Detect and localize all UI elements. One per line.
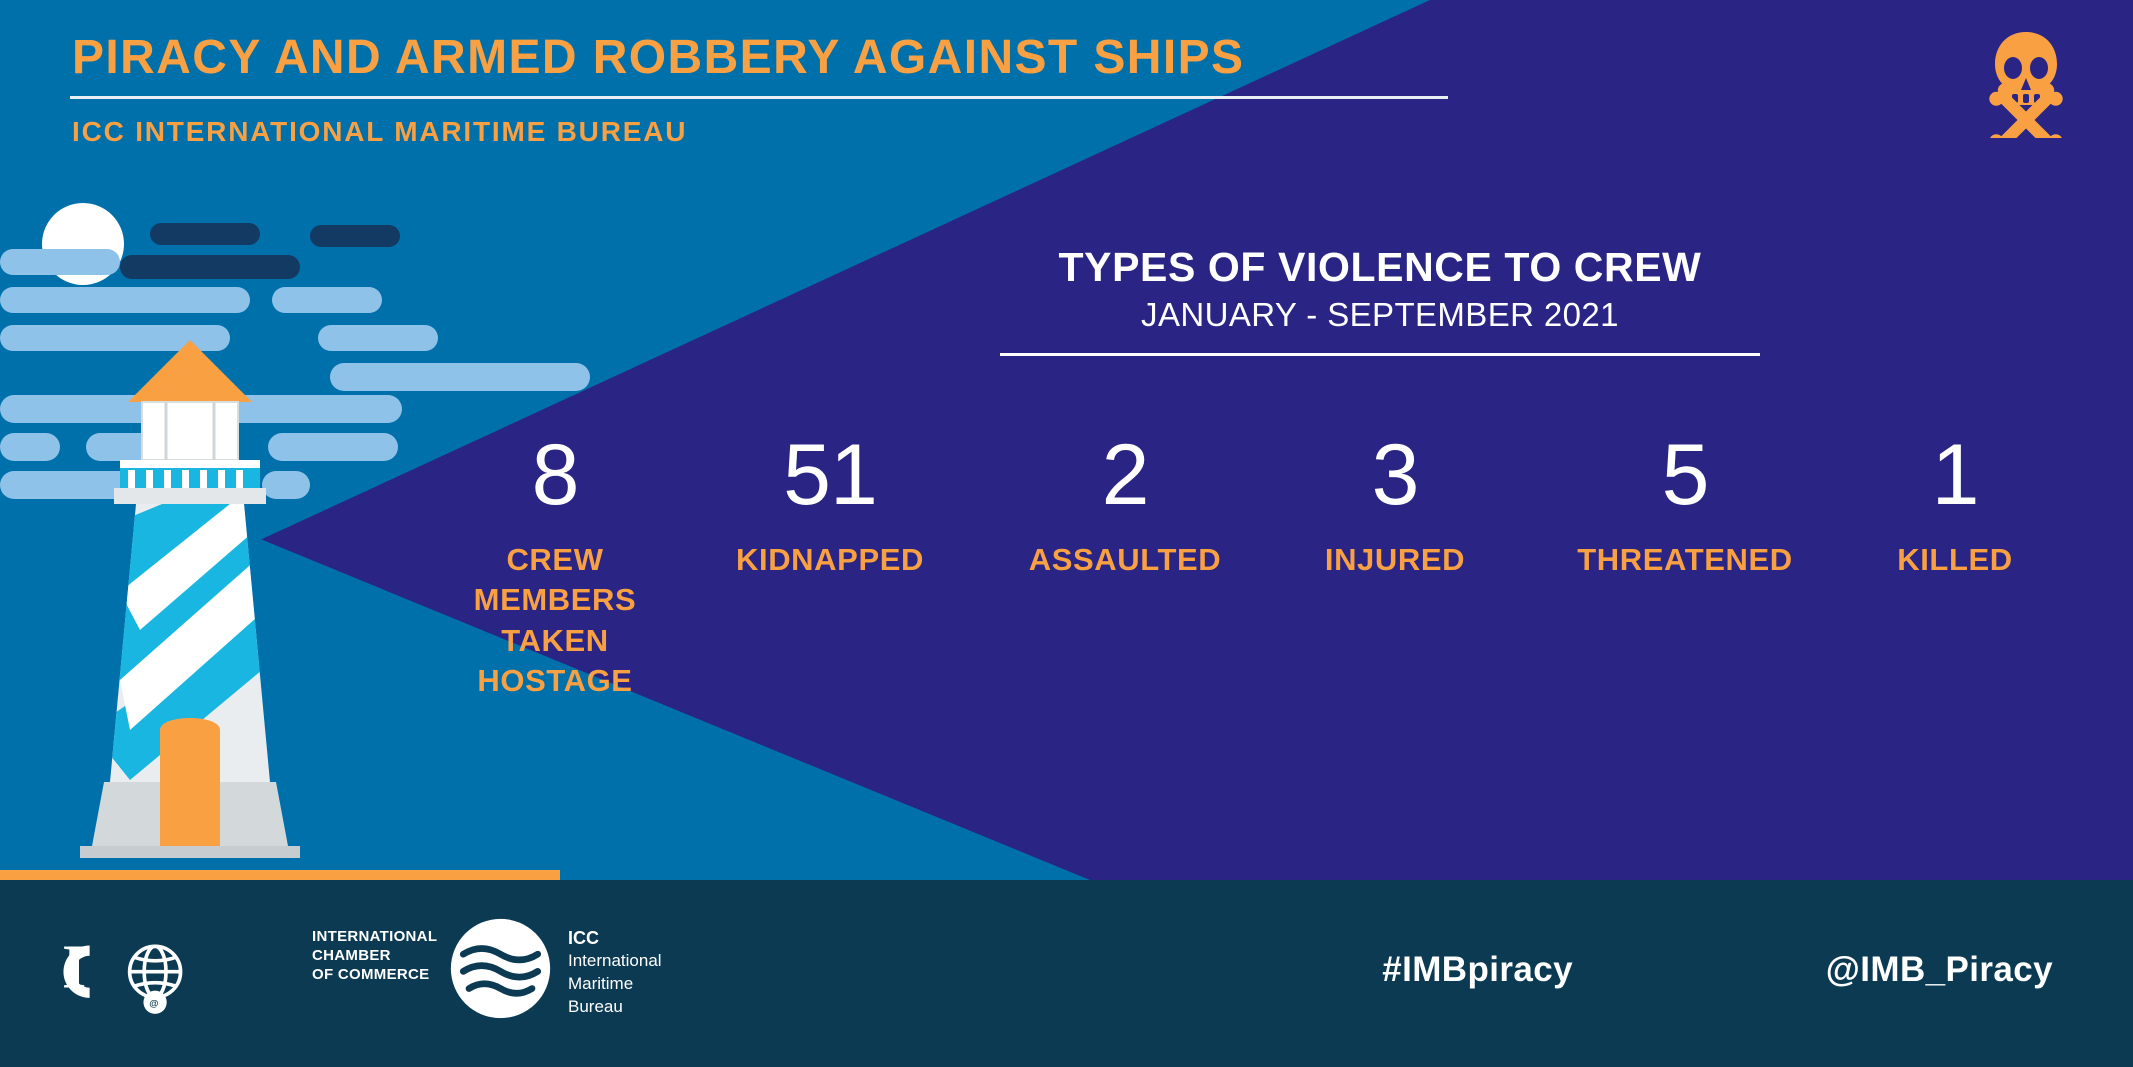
stat-killed: 1 KILLED: [1850, 432, 2060, 580]
stat-value: 2: [980, 432, 1270, 518]
cloud-bar: [0, 249, 120, 275]
icc-logo: I @ INTERNATIONAL CHAMBER OF COMMERCE: [62, 916, 392, 1026]
stat-value: 1: [1850, 432, 2060, 518]
orange-accent-bar: [0, 870, 560, 880]
icc-line1: INTERNATIONAL: [312, 928, 437, 947]
page-title: PIRACY AND ARMED ROBBERY AGAINST SHIPS: [72, 30, 1244, 85]
stat-value: 5: [1520, 432, 1850, 518]
header: PIRACY AND ARMED ROBBERY AGAINST SHIPS I…: [0, 0, 2133, 180]
stat-value: 8: [430, 432, 680, 518]
svg-text:@: @: [149, 999, 158, 1010]
stat-label: INJURED: [1270, 540, 1520, 580]
imb-line2: International: [568, 950, 662, 973]
hashtag-label[interactable]: #IMBpiracy: [1382, 950, 1573, 990]
imb-wave-mark: [448, 916, 553, 1021]
stat-kidnapped: 51 KIDNAPPED: [680, 432, 980, 580]
chart-period: JANUARY - SEPTEMBER 2021: [1000, 295, 1760, 335]
stat-label: ASSAULTED: [980, 540, 1270, 580]
icc-line3: OF COMMERCE: [312, 966, 437, 985]
heading-divider: [1000, 353, 1760, 356]
icc-logo-text: INTERNATIONAL CHAMBER OF COMMERCE: [312, 928, 437, 984]
cloud-bar: [272, 287, 382, 313]
cloud-bar: [330, 363, 590, 391]
stat-label: CREW MEMBERS TAKEN HOSTAGE: [430, 540, 680, 701]
statistics-row: 8 CREW MEMBERS TAKEN HOSTAGE 51 KIDNAPPE…: [430, 432, 2090, 701]
chart-heading: TYPES OF VIOLENCE TO CREW JANUARY - SEPT…: [1000, 245, 1760, 356]
cloud-bar: [0, 287, 250, 313]
imb-line3: Maritime: [568, 973, 662, 996]
stat-label: KIDNAPPED: [680, 540, 980, 580]
skull-and-crossbones-icon: [1981, 28, 2071, 138]
stat-threatened: 5 THREATENED: [1520, 432, 1850, 580]
imb-logo-text: ICC International Maritime Bureau: [568, 926, 662, 1019]
cloud-bar-dark: [310, 225, 400, 247]
imb-line4: Bureau: [568, 996, 662, 1019]
icc-line2: CHAMBER: [312, 947, 437, 966]
stat-hostage: 8 CREW MEMBERS TAKEN HOSTAGE: [430, 432, 680, 701]
stat-label: THREATENED: [1520, 540, 1850, 580]
stat-assaulted: 2 ASSAULTED: [980, 432, 1270, 580]
chart-title: TYPES OF VIOLENCE TO CREW: [1000, 245, 1760, 291]
stat-label: KILLED: [1850, 540, 2060, 580]
imb-line1: ICC: [568, 926, 662, 950]
twitter-handle-label[interactable]: @IMB_Piracy: [1826, 950, 2053, 990]
stat-value: 3: [1270, 432, 1520, 518]
icc-globe-mark: I @: [62, 916, 302, 1026]
cloud-bar-dark: [150, 223, 260, 245]
cloud-bar-dark: [120, 255, 300, 279]
stat-value: 51: [680, 432, 980, 518]
infographic-canvas: PIRACY AND ARMED ROBBERY AGAINST SHIPS I…: [0, 0, 2133, 1067]
title-divider: [70, 96, 1448, 99]
stat-injured: 3 INJURED: [1270, 432, 1520, 580]
imb-logo: ICC International Maritime Bureau: [448, 910, 698, 1030]
footer: I @ INTERNATIONAL CHAMBER OF COMMERCE: [0, 880, 2133, 1067]
lighthouse-illustration: [20, 330, 360, 880]
page-subtitle: ICC INTERNATIONAL MARITIME BUREAU: [72, 116, 687, 148]
